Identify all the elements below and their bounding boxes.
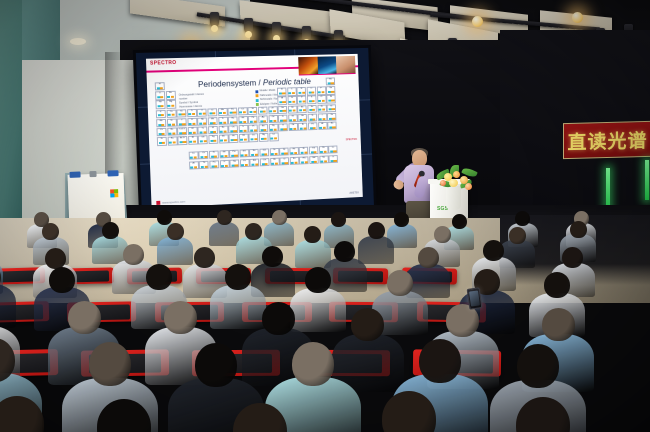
video-wall[interactable]: SPECTRO Periodensystem / Periodic table …	[133, 45, 377, 222]
audience-member-head	[419, 339, 461, 383]
stage-banner-text: 直读光谱	[567, 125, 647, 154]
audience-member-torso	[358, 236, 394, 264]
stage-banner: 直读光谱	[563, 121, 650, 159]
audience-member-torso	[210, 285, 266, 329]
audience-member-head	[195, 343, 237, 387]
audience-member-head	[542, 308, 575, 341]
audience-member-head	[123, 244, 144, 265]
flower-bouquet	[436, 165, 476, 193]
windows-logo-icon	[110, 189, 118, 197]
audience-member-head	[394, 212, 409, 227]
recessed-ceiling-light	[70, 38, 86, 45]
flipchart-clip	[89, 171, 96, 177]
flipchart-clip	[107, 170, 118, 176]
audience-member-head	[509, 227, 526, 244]
audience-member-head	[167, 223, 184, 240]
audience-member-head	[331, 212, 346, 227]
audience-member-head	[146, 264, 172, 290]
audience-member-torso	[157, 237, 193, 265]
audience-member-head	[483, 240, 504, 261]
audience-member-head	[304, 226, 321, 243]
audience-member-head	[217, 210, 232, 225]
audience-member-head	[45, 248, 66, 269]
audience-member-head	[305, 267, 331, 293]
audience-member-head	[89, 342, 131, 386]
audience-member-head	[452, 214, 467, 229]
blossom	[465, 183, 472, 190]
audience-member-head	[68, 301, 101, 334]
audience	[0, 210, 650, 432]
blossom	[449, 179, 458, 187]
track-spotlight	[302, 26, 311, 41]
audience-member-head	[446, 304, 479, 337]
audience-member-head	[418, 247, 439, 268]
audience-member-head	[102, 222, 119, 239]
led-strip	[645, 160, 649, 200]
audience-member-head	[334, 241, 355, 262]
audience-member-torso	[209, 222, 239, 246]
track-spotlight	[210, 12, 219, 27]
audience-member-torso	[290, 288, 346, 332]
blossom	[440, 180, 446, 186]
track-spotlight	[272, 22, 281, 37]
audience-member-torso	[0, 284, 16, 328]
audience-member-head	[194, 247, 215, 268]
audience-member-head	[544, 272, 570, 298]
video-wall-bezel	[133, 45, 377, 222]
audience-member-head	[225, 264, 251, 290]
audience-member-head	[49, 267, 75, 293]
audience-member-head	[262, 302, 295, 335]
flipchart-clip	[69, 171, 80, 177]
audience-member-head	[562, 247, 583, 268]
audience-member-head	[292, 342, 334, 386]
seminar-photo: 直读光谱 SPECTRO Periodensystem / Periodic t…	[0, 0, 650, 432]
pendant-bulb	[572, 12, 583, 23]
audience-member-head	[164, 301, 197, 334]
audience-member-head	[272, 210, 287, 225]
blossom	[453, 171, 460, 178]
audience-member-head	[245, 223, 262, 240]
audience-member-head	[387, 270, 413, 296]
audience-member-head	[368, 222, 385, 239]
pendant-bulb	[472, 16, 483, 27]
audience-member-head	[351, 308, 384, 341]
smartphone[interactable]	[467, 287, 483, 310]
audience-member-head	[517, 344, 559, 388]
audience-member-head	[434, 226, 451, 243]
audience-member-head	[157, 210, 172, 225]
track-spotlight	[244, 18, 253, 33]
audience-member-head	[570, 221, 587, 238]
